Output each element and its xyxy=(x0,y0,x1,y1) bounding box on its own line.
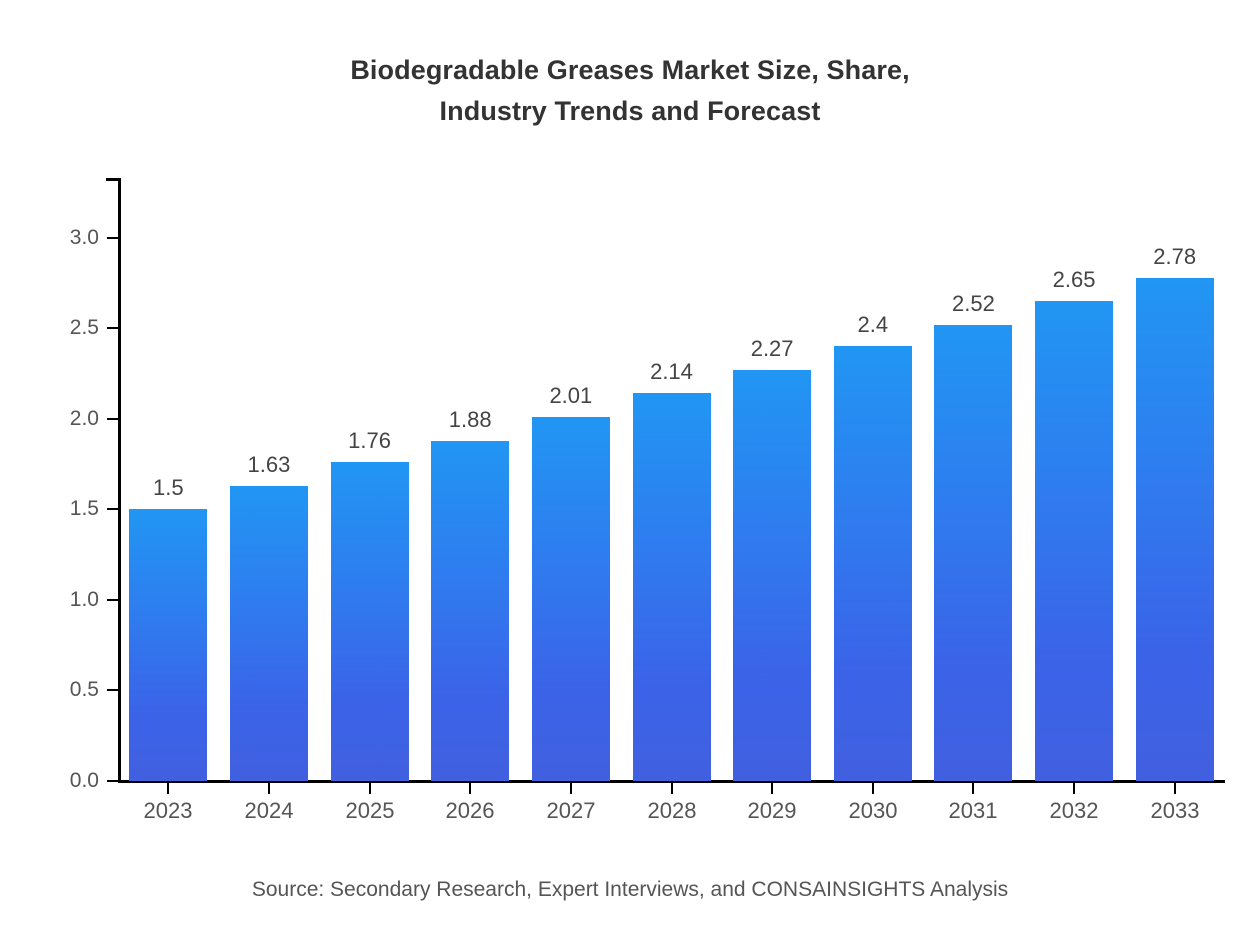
y-tick-mark xyxy=(107,508,118,510)
x-tick-mark xyxy=(369,783,371,794)
x-tick-mark xyxy=(972,783,974,794)
chart-title: Biodegradable Greases Market Size, Share… xyxy=(0,50,1260,132)
bar-value-label: 2.27 xyxy=(702,335,842,363)
bar[interactable] xyxy=(834,346,912,781)
x-tick-mark xyxy=(268,783,270,794)
bar[interactable] xyxy=(633,393,711,781)
bar[interactable] xyxy=(1136,278,1214,781)
x-tick-mark xyxy=(1073,783,1075,794)
y-tick-mark xyxy=(107,237,118,239)
bar-value-label: 1.88 xyxy=(400,406,540,434)
x-tick-mark xyxy=(671,783,673,794)
y-tick-label: 0.0 xyxy=(70,767,99,794)
bar[interactable] xyxy=(431,441,509,781)
bar[interactable] xyxy=(934,325,1012,781)
bar-chart-figure: Biodegradable Greases Market Size, Share… xyxy=(0,0,1260,920)
bar-value-label: 2.01 xyxy=(501,382,641,410)
x-tick-label: 2033 xyxy=(1115,797,1235,825)
y-tick-label: 0.5 xyxy=(70,676,99,703)
y-tick-mark xyxy=(107,599,118,601)
y-tick-label: 2.5 xyxy=(70,314,99,341)
bar[interactable] xyxy=(129,509,207,781)
x-tick-mark xyxy=(570,783,572,794)
y-tick-label: 3.0 xyxy=(70,224,99,251)
bar[interactable] xyxy=(733,370,811,781)
x-tick-mark xyxy=(469,783,471,794)
x-tick-mark xyxy=(771,783,773,794)
bar-value-label: 1.63 xyxy=(199,451,339,479)
x-tick-mark xyxy=(167,783,169,794)
source-note: Source: Secondary Research, Expert Inter… xyxy=(0,876,1260,904)
y-tick-mark xyxy=(107,327,118,329)
y-tick-label: 1.0 xyxy=(70,586,99,613)
x-tick-mark xyxy=(1174,783,1176,794)
bar[interactable] xyxy=(331,462,409,781)
bar[interactable] xyxy=(532,417,610,781)
bar-value-label: 2.78 xyxy=(1105,243,1245,271)
y-tick-label: 2.0 xyxy=(70,405,99,432)
y-tick-label: 1.5 xyxy=(70,495,99,522)
y-tick-mark xyxy=(107,418,118,420)
y-tick-mark xyxy=(107,689,118,691)
x-tick-mark xyxy=(872,783,874,794)
bar[interactable] xyxy=(230,486,308,781)
y-tick-mark xyxy=(107,780,118,782)
bar-value-label: 2.52 xyxy=(903,290,1043,318)
bar[interactable] xyxy=(1035,301,1113,781)
